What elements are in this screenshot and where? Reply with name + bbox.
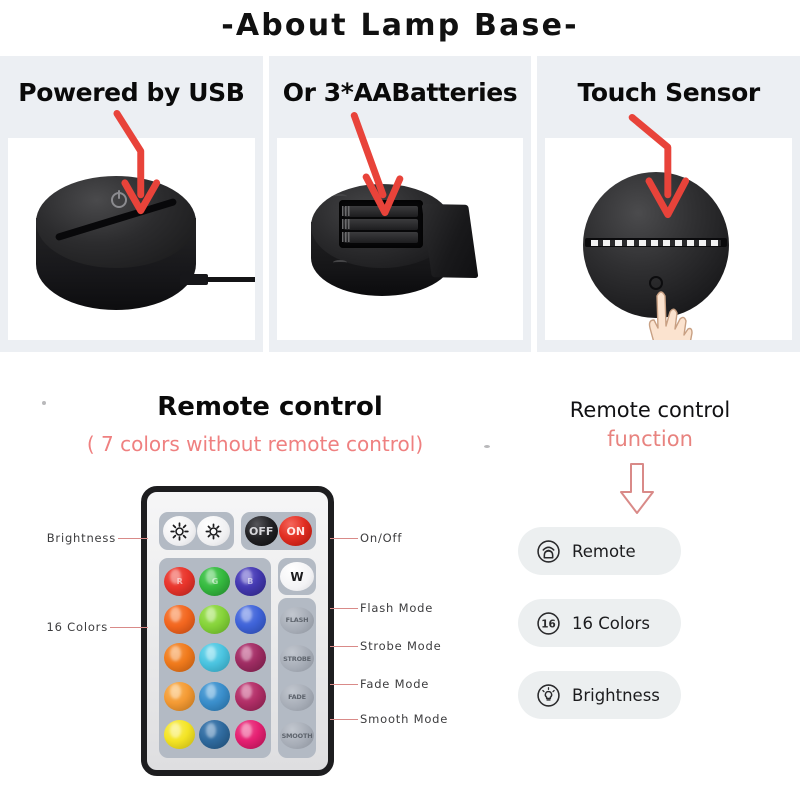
sixteen-circle-icon: 16 (536, 611, 561, 636)
white-key-pad: W (278, 558, 316, 595)
leader-line-on-off (330, 538, 358, 539)
strobe-mode-key[interactable]: STROBE (280, 645, 314, 672)
color-key-white[interactable]: W (280, 562, 314, 591)
down-arrow-icon (619, 462, 655, 516)
svg-text:16: 16 (541, 618, 555, 630)
function-section-subtitle: function (520, 427, 780, 451)
decorative-speck (484, 445, 490, 448)
color-key-sky-blue[interactable] (199, 682, 230, 711)
function-pill-label: 16 Colors (572, 614, 650, 633)
lamp-base-usb-photo (8, 138, 255, 340)
function-pill-brightness[interactable]: Brightness (518, 671, 681, 719)
brightness-key-pad (159, 512, 234, 550)
panel-caption-touch: Touch Sensor (537, 78, 800, 107)
color-key-orange-deep[interactable] (164, 605, 195, 634)
color-key-orange[interactable] (164, 643, 195, 672)
callout-strobe-mode: Strobe Mode (360, 639, 441, 653)
lamp-base-touch-photo (545, 138, 792, 340)
color-key-navy[interactable] (199, 720, 230, 749)
color-key-plum[interactable] (235, 682, 266, 711)
brightness-up-key[interactable] (163, 516, 196, 546)
function-pill-remote[interactable]: Remote (518, 527, 681, 575)
function-section-title: Remote control (520, 398, 780, 422)
color-key-green[interactable]: G (199, 567, 230, 596)
fade-mode-key[interactable]: FADE (280, 684, 314, 711)
color-key-cyan[interactable] (199, 643, 230, 672)
remote-mode-column: W FLASH STROBE FADE SMOOTH (278, 558, 316, 758)
leader-line-fade (330, 684, 358, 685)
remote-main-key-area: R G B W FLASH (159, 558, 316, 758)
feature-panels: Powered by USB Or 3*AA (0, 56, 800, 352)
power-button-icon (111, 192, 127, 208)
lamp-base-battery-photo (277, 138, 524, 340)
color-key-magenta-dark[interactable] (235, 643, 266, 672)
power-off-key[interactable]: OFF (245, 516, 278, 546)
usb-cable (180, 274, 252, 285)
remote-section-heading: Remote control (110, 392, 430, 422)
color-key-amber[interactable] (164, 682, 195, 711)
panel-caption-usb: Powered by USB (0, 78, 263, 107)
mode-key-pad: FLASH STROBE FADE SMOOTH (278, 598, 316, 758)
smooth-mode-key[interactable]: SMOOTH (280, 722, 314, 749)
callout-on-off: On/Off (360, 531, 402, 545)
leader-line-flash (330, 608, 358, 609)
leader-line-brightness (118, 538, 148, 539)
battery-compartment-icon (339, 200, 423, 248)
brightness-down-key[interactable] (197, 516, 230, 546)
leader-line-smooth (330, 719, 358, 720)
flash-mode-key[interactable]: FLASH (280, 607, 314, 634)
infographic-page: -About Lamp Base- Powered by USB (0, 0, 800, 800)
color-key-royal-blue[interactable] (235, 605, 266, 634)
callout-flash-mode: Flash Mode (360, 601, 433, 615)
panel-caption-batteries: Or 3*AABatteries (269, 78, 532, 107)
callout-fade-mode: Fade Mode (360, 677, 429, 691)
callout-brightness: Brightness (34, 531, 116, 545)
color-key-blue[interactable]: B (235, 567, 266, 596)
page-title: -About Lamp Base- (0, 8, 800, 43)
color-key-grid: R G B (159, 558, 271, 758)
panel-powered-by-usb: Powered by USB (0, 56, 263, 352)
leader-line-16-colors (110, 627, 148, 628)
remote-section-subheading: ( 7 colors without remote control) (40, 432, 470, 456)
leader-line-strobe (330, 646, 358, 647)
color-key-red[interactable]: R (164, 567, 195, 596)
callout-smooth-mode: Smooth Mode (360, 712, 448, 726)
hand-touch-icon (637, 280, 693, 340)
color-key-yellow[interactable] (164, 720, 195, 749)
remote-signal-icon (536, 539, 561, 564)
callout-16-colors: 16 Colors (34, 620, 108, 634)
function-pill-label: Brightness (572, 686, 660, 705)
color-key-pink[interactable] (235, 720, 266, 749)
decorative-speck (42, 401, 46, 405)
function-pill-label: Remote (572, 542, 636, 561)
color-key-lime[interactable] (199, 605, 230, 634)
panel-aa-batteries: Or 3*AABatteries (269, 56, 532, 352)
remote-top-key-row: OFF ON (159, 512, 316, 550)
panel-touch-sensor: Touch Sensor (537, 56, 800, 352)
lightbulb-icon (536, 683, 561, 708)
power-key-pad: OFF ON (241, 512, 316, 550)
battery-lid (421, 204, 478, 278)
function-pill-16-colors[interactable]: 16 16 Colors (518, 599, 681, 647)
power-on-key[interactable]: ON (279, 516, 312, 546)
rgb-remote-control: OFF ON R G B (141, 486, 334, 776)
led-strip (585, 238, 727, 247)
sun-bright-icon (170, 522, 189, 541)
sun-dim-icon (204, 522, 223, 541)
